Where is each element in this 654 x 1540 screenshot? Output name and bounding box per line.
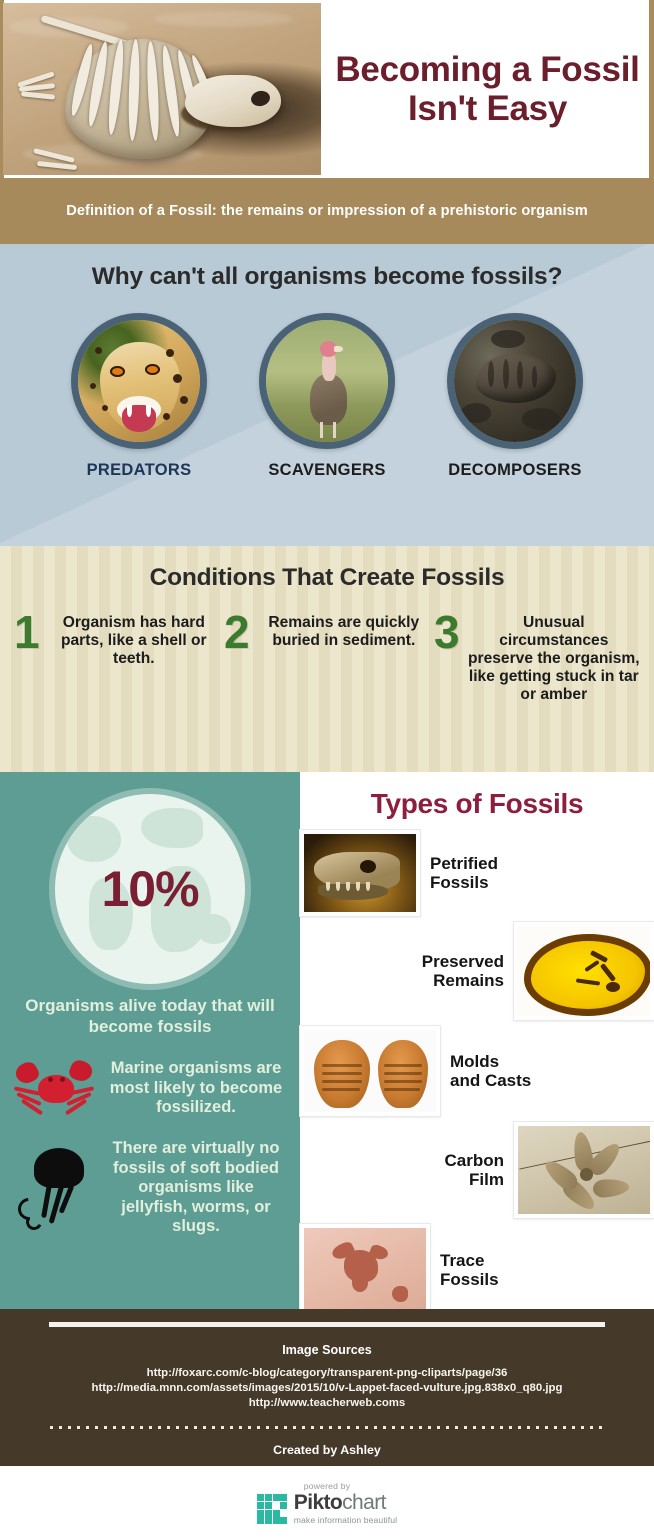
why-item-label-decomposers: DECOMPOSERS	[440, 461, 590, 480]
author-credit: Created by Ashley	[0, 1443, 654, 1457]
conditions-row: 1 Organism has hard parts, like a shell …	[0, 612, 654, 704]
cheetah-photo	[78, 320, 200, 442]
fact-text-softbody: There are virtually no fossils of soft b…	[104, 1139, 288, 1236]
amber-insect-photo	[514, 922, 654, 1020]
piktochart-name-bold: Pikto	[294, 1491, 342, 1514]
definition-text: Definition of a Fossil: the remains or i…	[66, 203, 588, 219]
piktochart-name-light: chart	[342, 1491, 386, 1514]
why-item-scavengers: SCAVENGERS	[252, 313, 402, 480]
earthworm-photo	[454, 320, 576, 442]
types-panel: Types of Fossils Petrified Fossils Prese…	[300, 772, 654, 1309]
scavenger-circle-frame	[259, 313, 395, 449]
type-item-trace: Trace Fossils	[300, 1224, 654, 1316]
piktochart-name: Piktochart	[294, 1492, 386, 1513]
vulture-photo	[266, 320, 388, 442]
powered-by-label: powered by	[304, 1481, 350, 1491]
fossil-percent: 10%	[55, 794, 245, 984]
definition-bar: Definition of a Fossil: the remains or i…	[0, 178, 654, 244]
why-items-row: PREDATORS SCAVENGERS	[0, 313, 654, 480]
source-url-3: http://www.teacherweb.coms	[0, 1396, 654, 1411]
condition-text-2: Remains are quickly buried in sediment.	[258, 612, 430, 650]
header-section: Becoming a Fossil Isn't Easy	[0, 0, 654, 178]
why-item-predators: PREDATORS	[64, 313, 214, 480]
source-url-1: http://foxarc.com/c-blog/category/transp…	[0, 1366, 654, 1381]
fact-row-softbody: There are virtually no fossils of soft b…	[0, 1139, 300, 1236]
predator-circle-frame	[71, 313, 207, 449]
infographic-page: Becoming a Fossil Isn't Easy Definition …	[0, 0, 654, 1538]
piktochart-branding-bar: powered by Piktochart make infor	[0, 1466, 654, 1540]
type-label-preserved: Preserved Remains	[412, 952, 514, 991]
footer-divider-rule	[49, 1322, 605, 1327]
fact-text-marine: Marine organisms are most likely to beco…	[104, 1059, 288, 1117]
page-title: Becoming a Fossil Isn't Easy	[331, 50, 644, 128]
type-item-petrified: Petrified Fossils	[300, 830, 654, 916]
type-label-trace: Trace Fossils	[430, 1251, 509, 1290]
condition-item-2: 2 Remains are quickly buried in sediment…	[224, 612, 430, 704]
header-title-container: Becoming a Fossil Isn't Easy	[321, 0, 654, 178]
why-item-decomposers: DECOMPOSERS	[440, 313, 590, 480]
piktochart-tagline: make information beautiful	[294, 1515, 397, 1525]
condition-number-2: 2	[224, 612, 250, 652]
footer-dotted-divider	[50, 1426, 604, 1429]
source-url-2: http://media.mnn.com/assets/images/2015/…	[0, 1381, 654, 1396]
condition-number-3: 3	[434, 612, 460, 652]
type-item-carbon: Carbon Film	[300, 1122, 654, 1218]
footer-section: Image Sources http://foxarc.com/c-blog/c…	[0, 1309, 654, 1466]
piktochart-logo[interactable]: Piktochart make information beautiful	[257, 1492, 397, 1525]
condition-text-1: Organism has hard parts, like a shell or…	[48, 612, 220, 668]
image-sources-list: http://foxarc.com/c-blog/category/transp…	[0, 1366, 654, 1411]
type-item-preserved: Preserved Remains	[300, 922, 654, 1020]
type-label-molds: Molds and Casts	[440, 1052, 541, 1091]
type-item-molds: Molds and Casts	[300, 1026, 654, 1116]
why-item-label-scavengers: SCAVENGERS	[252, 461, 402, 480]
header-right-border	[649, 0, 654, 178]
types-section-title: Types of Fossils	[300, 782, 654, 824]
stats-panel: 10% Organisms alive today that will beco…	[0, 772, 300, 1309]
trilobite-fossil-photo	[300, 1026, 440, 1116]
why-section: Why can't all organisms become fossils?	[0, 244, 654, 546]
conditions-title: Conditions That Create Fossils	[0, 546, 654, 592]
condition-number-1: 1	[14, 612, 40, 652]
conditions-section: Conditions That Create Fossils 1 Organis…	[0, 546, 654, 772]
main-section: 10% Organisms alive today that will beco…	[0, 772, 654, 1309]
image-sources-heading: Image Sources	[0, 1343, 654, 1357]
percent-caption: Organisms alive today that will become f…	[0, 996, 300, 1037]
piktochart-mark-icon	[257, 1494, 287, 1524]
condition-item-1: 1 Organism has hard parts, like a shell …	[14, 612, 220, 704]
fact-row-marine: Marine organisms are most likely to beco…	[0, 1057, 300, 1119]
condition-text-3: Unusual circumstances preserve the organ…	[468, 612, 640, 704]
dinosaur-skull-photo	[300, 830, 420, 916]
why-item-label-predators: PREDATORS	[64, 461, 214, 480]
decomposer-circle-frame	[447, 313, 583, 449]
condition-item-3: 3 Unusual circumstances preserve the org…	[434, 612, 640, 704]
fossil-skeleton-photo	[3, 3, 321, 175]
crab-icon	[12, 1057, 98, 1119]
carbon-film-leaf-photo	[514, 1122, 654, 1218]
dinosaur-footprint-photo	[300, 1224, 430, 1316]
piktochart-wordmark: Piktochart make information beautiful	[294, 1492, 397, 1525]
type-label-carbon: Carbon Film	[435, 1151, 515, 1190]
why-section-title: Why can't all organisms become fossils?	[0, 244, 654, 291]
jellyfish-icon	[12, 1140, 98, 1236]
globe-graphic: 10%	[55, 794, 245, 984]
type-label-petrified: Petrified Fossils	[420, 854, 508, 893]
